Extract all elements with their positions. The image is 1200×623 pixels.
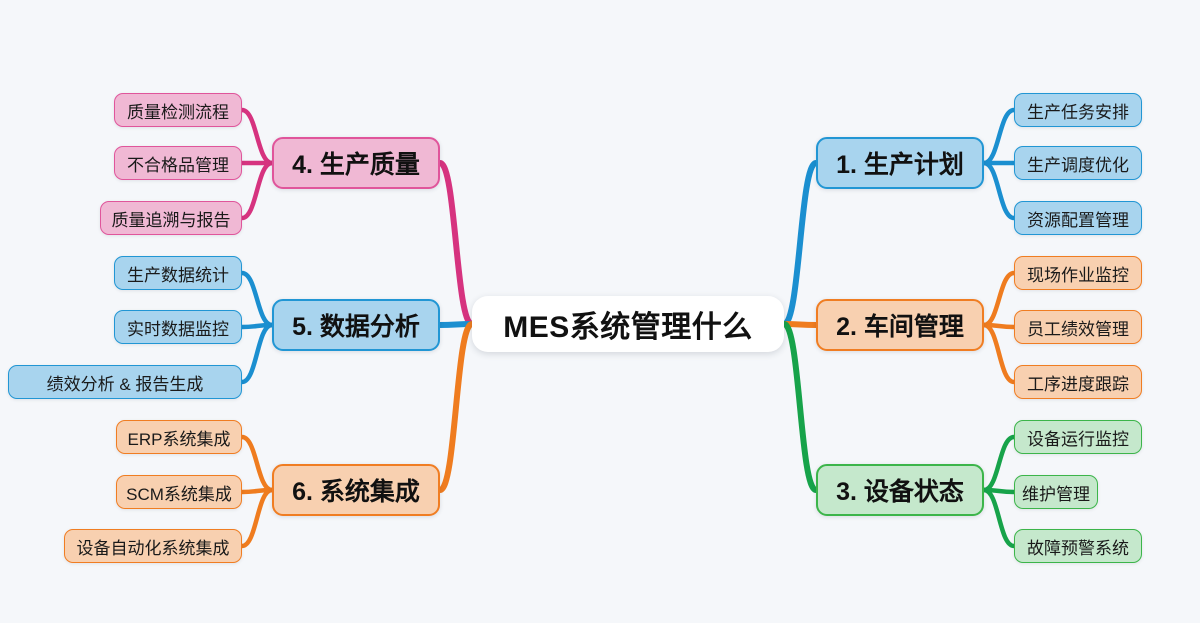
leaf-node-workshop-management-1[interactable]: 现场作业监控 (1014, 256, 1142, 290)
leaf-node-production-quality-1[interactable]: 质量检测流程 (114, 93, 242, 127)
leaf-node-production-quality-1-label: 质量检测流程 (127, 98, 229, 123)
leaf-node-equipment-status-2-label: 维护管理 (1022, 480, 1090, 505)
leaf-node-workshop-management-2-label: 员工绩效管理 (1027, 315, 1129, 340)
leaf-node-production-quality-2[interactable]: 不合格品管理 (114, 146, 242, 180)
leaf-node-data-analysis-3[interactable]: 绩效分析 & 报告生成 (8, 365, 242, 399)
connector (984, 437, 1014, 490)
connector (984, 110, 1014, 163)
leaf-node-workshop-management-3-label: 工序进度跟踪 (1027, 370, 1129, 395)
mindmap-canvas: MES系统管理什么1. 生产计划生产任务安排生产调度优化资源配置管理2. 车间管… (0, 0, 1200, 623)
connector (242, 273, 272, 325)
leaf-node-system-integration-1[interactable]: ERP系统集成 (116, 420, 242, 454)
connector (440, 324, 472, 490)
leaf-node-production-quality-3[interactable]: 质量追溯与报告 (100, 201, 242, 235)
leaf-node-data-analysis-1-label: 生产数据统计 (127, 261, 229, 286)
leaf-node-system-integration-3[interactable]: 设备自动化系统集成 (64, 529, 242, 563)
branch-node-equipment-status-label: 3. 设备状态 (836, 472, 964, 508)
leaf-node-equipment-status-1-label: 设备运行监控 (1027, 425, 1129, 450)
leaf-node-equipment-status-3[interactable]: 故障预警系统 (1014, 529, 1142, 563)
connector (784, 163, 816, 324)
connector (242, 325, 272, 382)
branch-node-system-integration[interactable]: 6. 系统集成 (272, 464, 440, 516)
connector (242, 490, 272, 492)
leaf-node-system-integration-2[interactable]: SCM系统集成 (116, 475, 242, 509)
leaf-node-equipment-status-1[interactable]: 设备运行监控 (1014, 420, 1142, 454)
connector (242, 325, 272, 327)
leaf-node-data-analysis-2-label: 实时数据监控 (127, 315, 229, 340)
connector (242, 163, 272, 218)
branch-node-production-quality-label: 4. 生产质量 (292, 145, 420, 181)
branch-node-data-analysis[interactable]: 5. 数据分析 (272, 299, 440, 351)
connector (784, 324, 816, 490)
branch-node-production-plan[interactable]: 1. 生产计划 (816, 137, 984, 189)
connector (984, 163, 1014, 218)
connector (440, 324, 472, 325)
leaf-node-production-plan-1[interactable]: 生产任务安排 (1014, 93, 1142, 127)
leaf-node-production-plan-2-label: 生产调度优化 (1027, 151, 1129, 176)
leaf-node-workshop-management-2[interactable]: 员工绩效管理 (1014, 310, 1142, 344)
connector (242, 490, 272, 546)
leaf-node-production-quality-3-label: 质量追溯与报告 (112, 206, 231, 231)
leaf-node-system-integration-1-label: ERP系统集成 (128, 425, 231, 450)
leaf-node-system-integration-2-label: SCM系统集成 (126, 480, 232, 505)
branch-node-equipment-status[interactable]: 3. 设备状态 (816, 464, 984, 516)
connector (440, 163, 472, 324)
leaf-node-equipment-status-2[interactable]: 维护管理 (1014, 475, 1098, 509)
connector (984, 490, 1014, 546)
connector (242, 437, 272, 490)
leaf-node-production-plan-3-label: 资源配置管理 (1027, 206, 1129, 231)
leaf-node-data-analysis-2[interactable]: 实时数据监控 (114, 310, 242, 344)
connector (784, 324, 816, 325)
connector (984, 325, 1014, 327)
leaf-node-workshop-management-3[interactable]: 工序进度跟踪 (1014, 365, 1142, 399)
branch-node-data-analysis-label: 5. 数据分析 (292, 307, 420, 343)
connector (984, 325, 1014, 382)
leaf-node-production-plan-1-label: 生产任务安排 (1027, 98, 1129, 123)
branch-node-production-quality[interactable]: 4. 生产质量 (272, 137, 440, 189)
branch-node-system-integration-label: 6. 系统集成 (292, 472, 420, 508)
leaf-node-production-quality-2-label: 不合格品管理 (127, 151, 229, 176)
connector (984, 273, 1014, 325)
leaf-node-equipment-status-3-label: 故障预警系统 (1027, 534, 1129, 559)
branch-node-production-plan-label: 1. 生产计划 (836, 145, 964, 181)
leaf-node-production-plan-3[interactable]: 资源配置管理 (1014, 201, 1142, 235)
leaf-node-data-analysis-3-label: 绩效分析 & 报告生成 (47, 370, 204, 395)
root-node-label: MES系统管理什么 (503, 302, 753, 346)
leaf-node-data-analysis-1[interactable]: 生产数据统计 (114, 256, 242, 290)
connector (984, 490, 1014, 492)
root-node[interactable]: MES系统管理什么 (472, 296, 784, 352)
branch-node-workshop-management-label: 2. 车间管理 (836, 307, 964, 343)
leaf-node-production-plan-2[interactable]: 生产调度优化 (1014, 146, 1142, 180)
connector (242, 110, 272, 163)
branch-node-workshop-management[interactable]: 2. 车间管理 (816, 299, 984, 351)
leaf-node-workshop-management-1-label: 现场作业监控 (1027, 261, 1129, 286)
leaf-node-system-integration-3-label: 设备自动化系统集成 (77, 534, 230, 559)
